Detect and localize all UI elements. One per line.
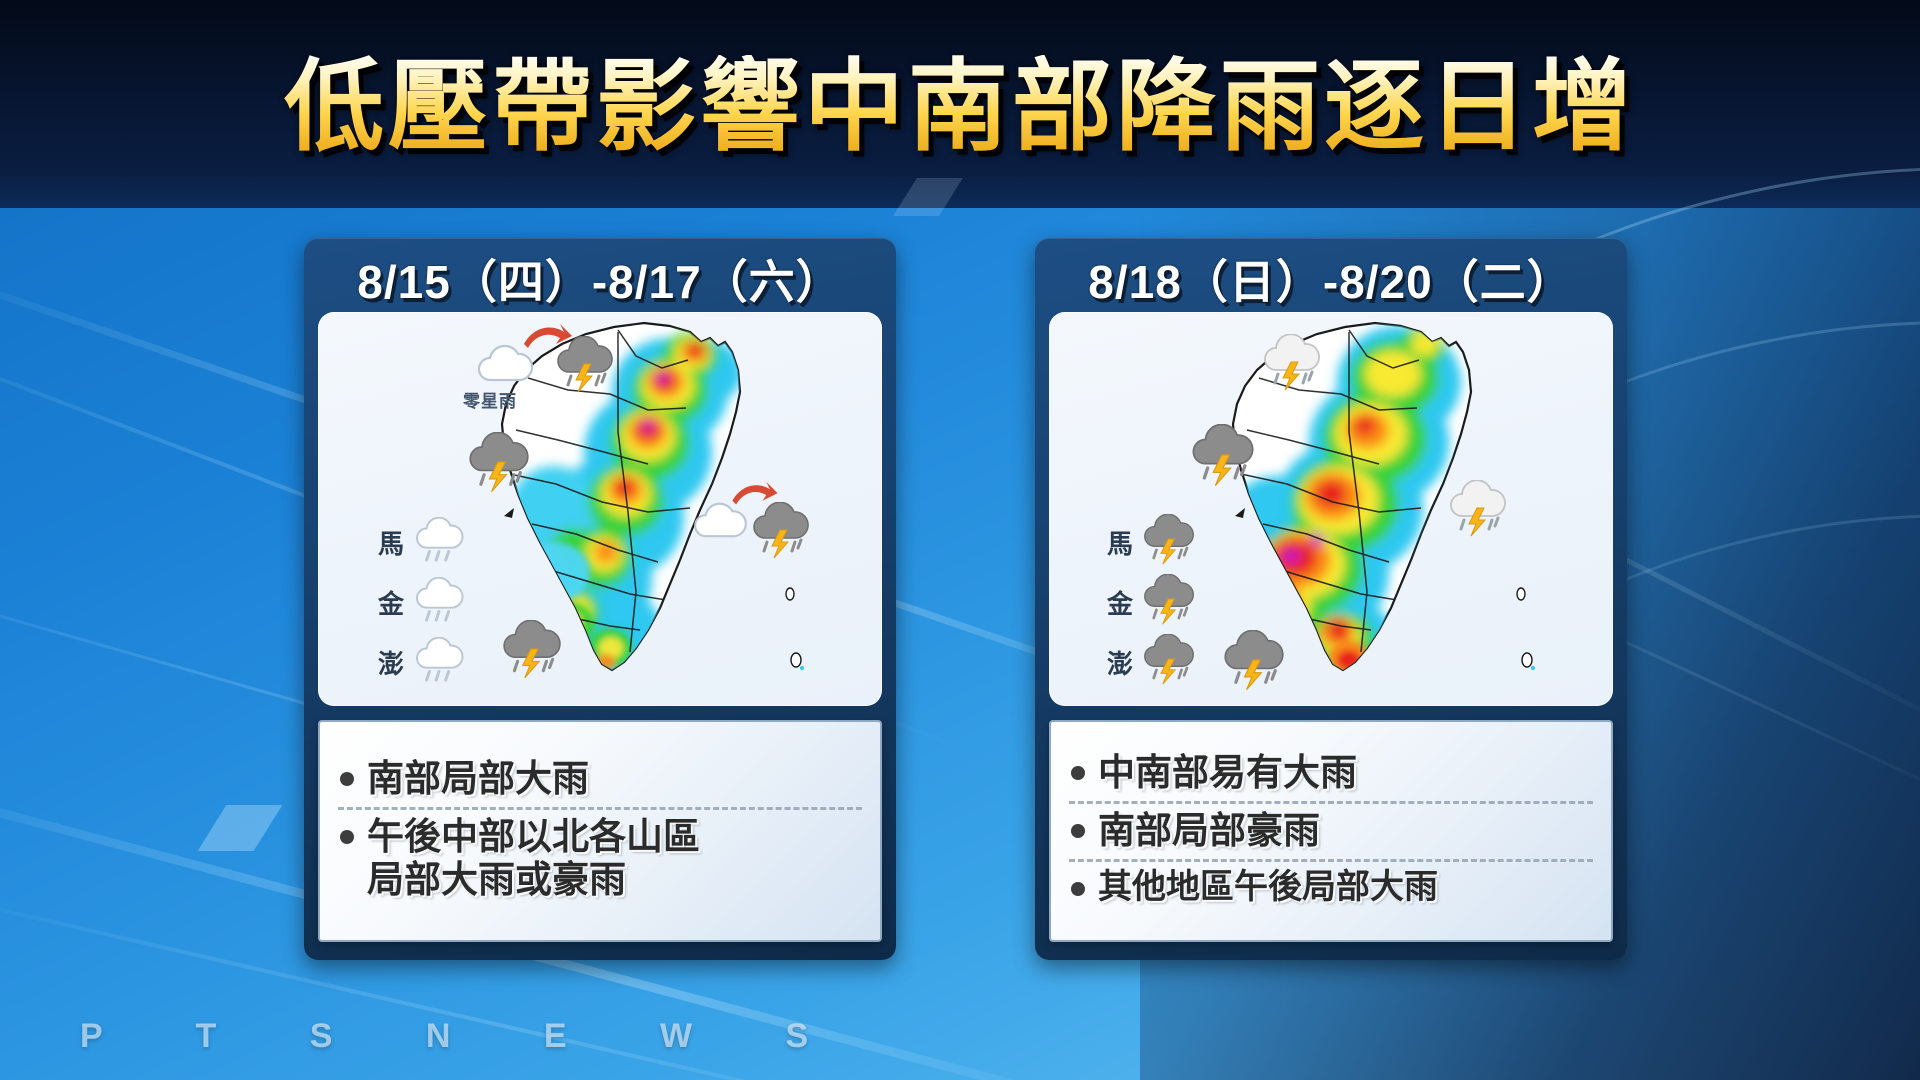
divider [1069, 859, 1593, 862]
island-label-penghu: 澎 [378, 644, 404, 681]
list-item: 中南部易有大雨 [1065, 747, 1597, 800]
thunderstorm-icon [1141, 574, 1197, 631]
thunderstorm-icon [1447, 480, 1509, 543]
thunderstorm-icon [1221, 630, 1287, 697]
bullet-text: 南部局部豪雨 [1098, 810, 1320, 853]
island-label-matsu: 馬 [1107, 524, 1133, 561]
bullet-text: 中南部易有大雨 [1098, 752, 1357, 795]
divider [1069, 801, 1593, 804]
bullet-text: 午後中部以北各山區 局部大雨或豪雨 [367, 816, 700, 902]
list-item: 南部局部大雨 [334, 753, 866, 806]
rain-cloud-icon [414, 577, 464, 628]
forecast-bullets-left: 南部局部大雨 午後中部以北各山區 局部大雨或豪雨 [318, 720, 882, 942]
island-label-kinmen: 金 [1107, 584, 1133, 621]
thunderstorm-icon [1141, 514, 1197, 571]
rain-cloud-icon [414, 517, 464, 568]
bullet-dot-icon [340, 772, 354, 786]
scattered-rain-label: 零星雨 [463, 387, 517, 412]
rain-cloud-icon [414, 637, 464, 688]
thunderstorm-icon [1141, 634, 1197, 691]
date-range-label-left: 8/15（四）-8/17（六） [318, 248, 882, 310]
bullet-dot-icon [1071, 766, 1085, 780]
bullet-dot-icon [340, 830, 354, 844]
forecast-panel-right: 8/18（日）-8/20（二） [1035, 238, 1627, 960]
thunderstorm-icon [750, 502, 812, 565]
thunderstorm-icon [500, 620, 564, 685]
list-item: 其他地區午後局部大雨 [1065, 863, 1597, 912]
bullet-text: 其他地區午後局部大雨 [1098, 868, 1438, 907]
island-label-matsu: 馬 [378, 524, 404, 561]
island-label-penghu: 澎 [1107, 644, 1133, 681]
forecast-panel-left: 8/15（四）-8/17（六） [304, 238, 896, 960]
island-label-kinmen: 金 [378, 584, 404, 621]
bullet-dot-icon [1071, 824, 1085, 838]
list-item: 午後中部以北各山區 局部大雨或豪雨 [334, 811, 866, 907]
thunderstorm-icon [1261, 334, 1323, 397]
divider [338, 807, 862, 810]
rainfall-map-left[interactable]: 零星雨 [318, 312, 882, 706]
thunderstorm-icon [466, 432, 532, 499]
taiwan-radar-map-right [1049, 312, 1613, 706]
bullet-text: 南部局部大雨 [367, 758, 589, 801]
date-range-label-right: 8/18（日）-8/20（二） [1049, 248, 1613, 310]
list-item: 南部局部豪雨 [1065, 805, 1597, 858]
broadcast-graphic: 低壓帶影響中南部降雨逐日增 8/15（四）-8/17（六） [0, 0, 1920, 1080]
page-title: 低壓帶影響中南部降雨逐日增 [0, 55, 1920, 160]
forecast-bullets-right: 中南部易有大雨 南部局部豪雨 其他地區午後局部大雨 [1049, 720, 1613, 942]
thunderstorm-icon [554, 336, 616, 399]
rainfall-map-right[interactable]: 馬 金 澎 [1049, 312, 1613, 706]
bullet-dot-icon [1071, 882, 1085, 896]
thunderstorm-icon [1189, 424, 1257, 493]
